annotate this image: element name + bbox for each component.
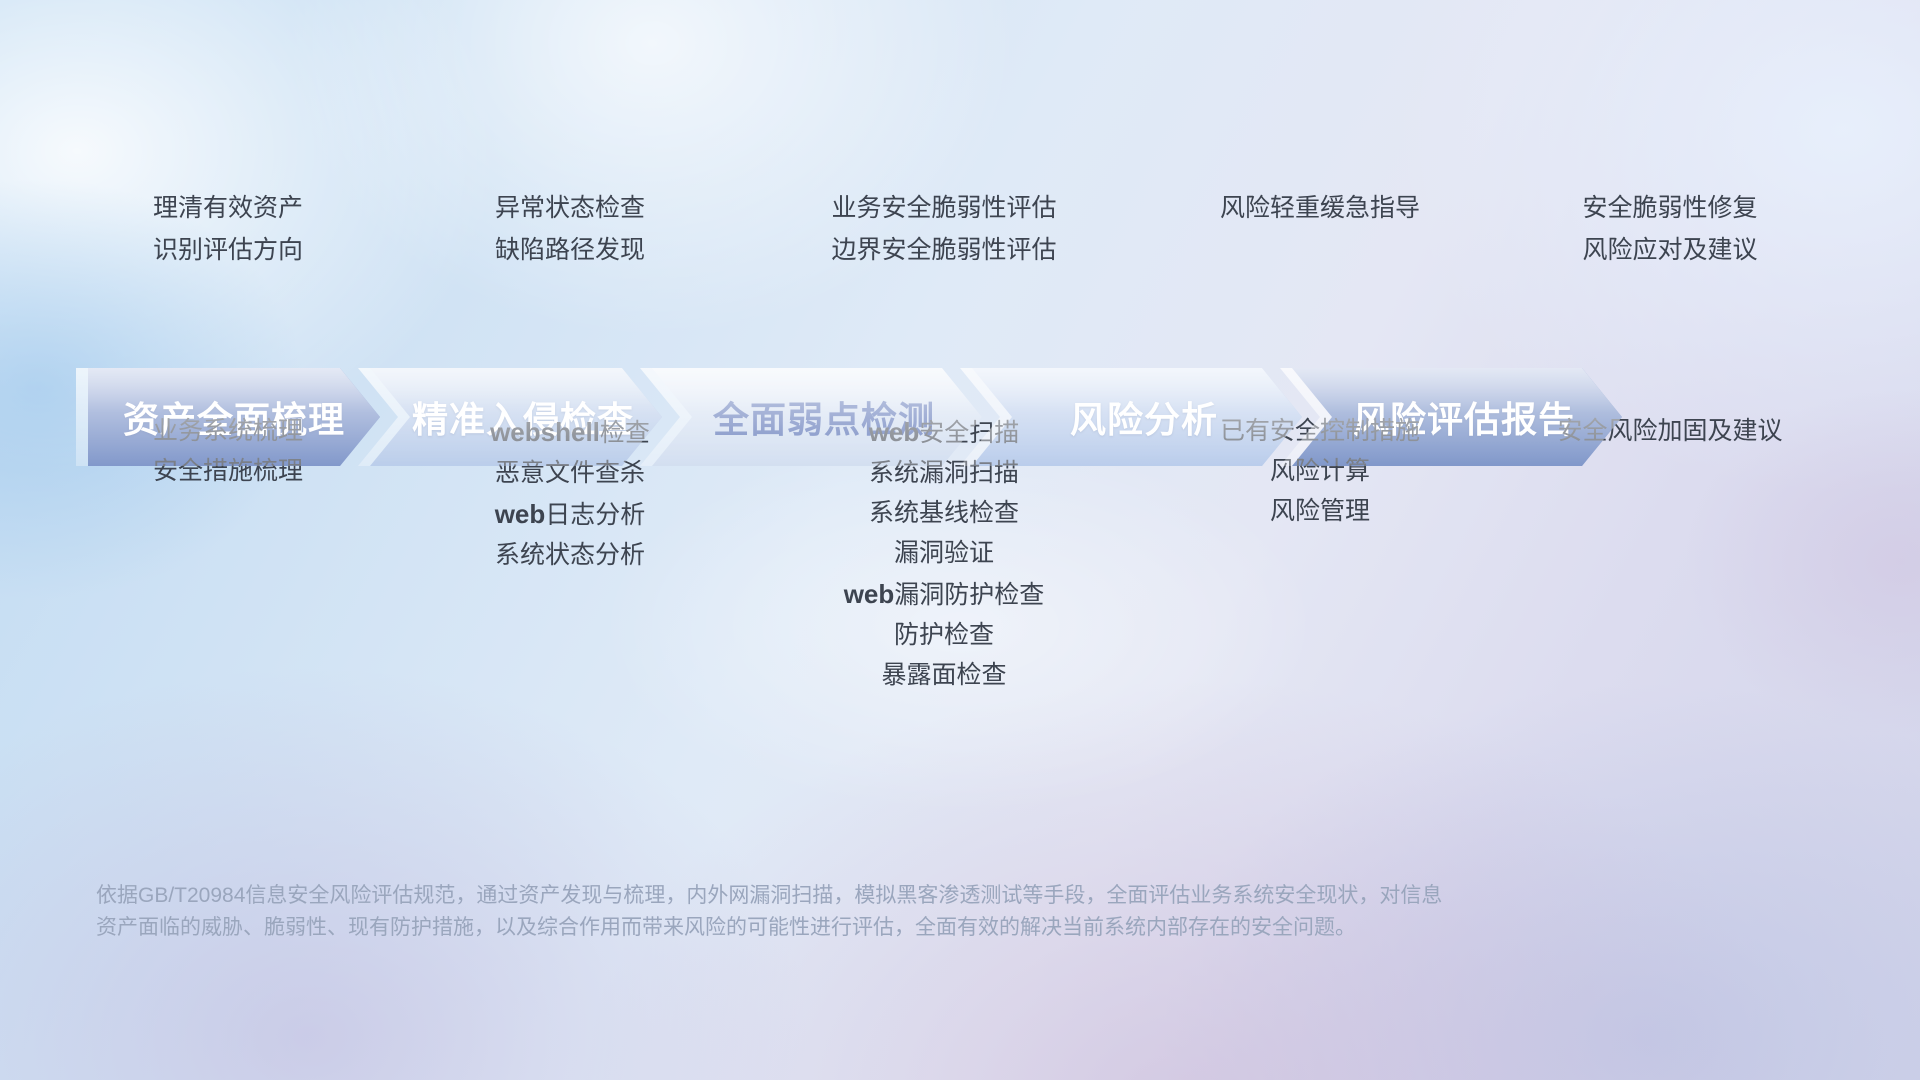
footer-description: 依据GB/T20984信息安全风险评估规范，通过资产发现与梳理，内外网漏洞扫描，… — [96, 880, 1716, 944]
top-text-risk-analysis-1: 风险轻重缓急指导 — [1220, 196, 1420, 221]
arrow-bevel-report — [1280, 368, 1622, 466]
footer-line-1: 依据GB/T20984信息安全风险评估规范，通过资产发现与梳理，内外网漏洞扫描，… — [96, 880, 1716, 912]
top-text-report-2: 风险应对及建议 — [1582, 238, 1757, 263]
arrow-bevel-risk-analysis — [960, 368, 1302, 466]
list-item: 漏洞验证 — [844, 541, 1045, 566]
top-text-intrusion-2: 缺陷路径发现 — [495, 238, 645, 263]
list-item: web日志分析 — [490, 501, 650, 528]
arrow-bevel-intrusion — [358, 368, 662, 466]
process-diagram: 理清有效资产识别评估方向异常状态检查缺陷路径发现业务安全脆弱性评估边界安全脆弱性… — [0, 0, 1920, 1080]
footer-line-2: 资产面临的威胁、脆弱性、现有防护措施，以及综合作用而带来风险的可能性进行评估，全… — [96, 912, 1716, 944]
top-text-report-1: 安全脆弱性修复 — [1582, 196, 1757, 221]
arrow-bevel-weakness — [640, 368, 982, 466]
list-item: web漏洞防护检查 — [844, 581, 1045, 608]
arrow-bevel-asset — [76, 368, 380, 466]
list-item: 系统基线检查 — [844, 501, 1045, 526]
list-item: 风险管理 — [1220, 499, 1420, 524]
top-text-weakness-1: 业务安全脆弱性评估 — [831, 196, 1056, 221]
list-item: 系统状态分析 — [490, 543, 650, 568]
top-text-asset-2: 识别评估方向 — [153, 238, 303, 263]
list-item: 暴露面检查 — [844, 663, 1045, 688]
top-text-intrusion-1: 异常状态检查 — [495, 196, 645, 221]
top-text-weakness-2: 边界安全脆弱性评估 — [831, 238, 1056, 263]
list-item: 防护检查 — [844, 623, 1045, 648]
top-text-asset-1: 理清有效资产 — [153, 196, 303, 221]
